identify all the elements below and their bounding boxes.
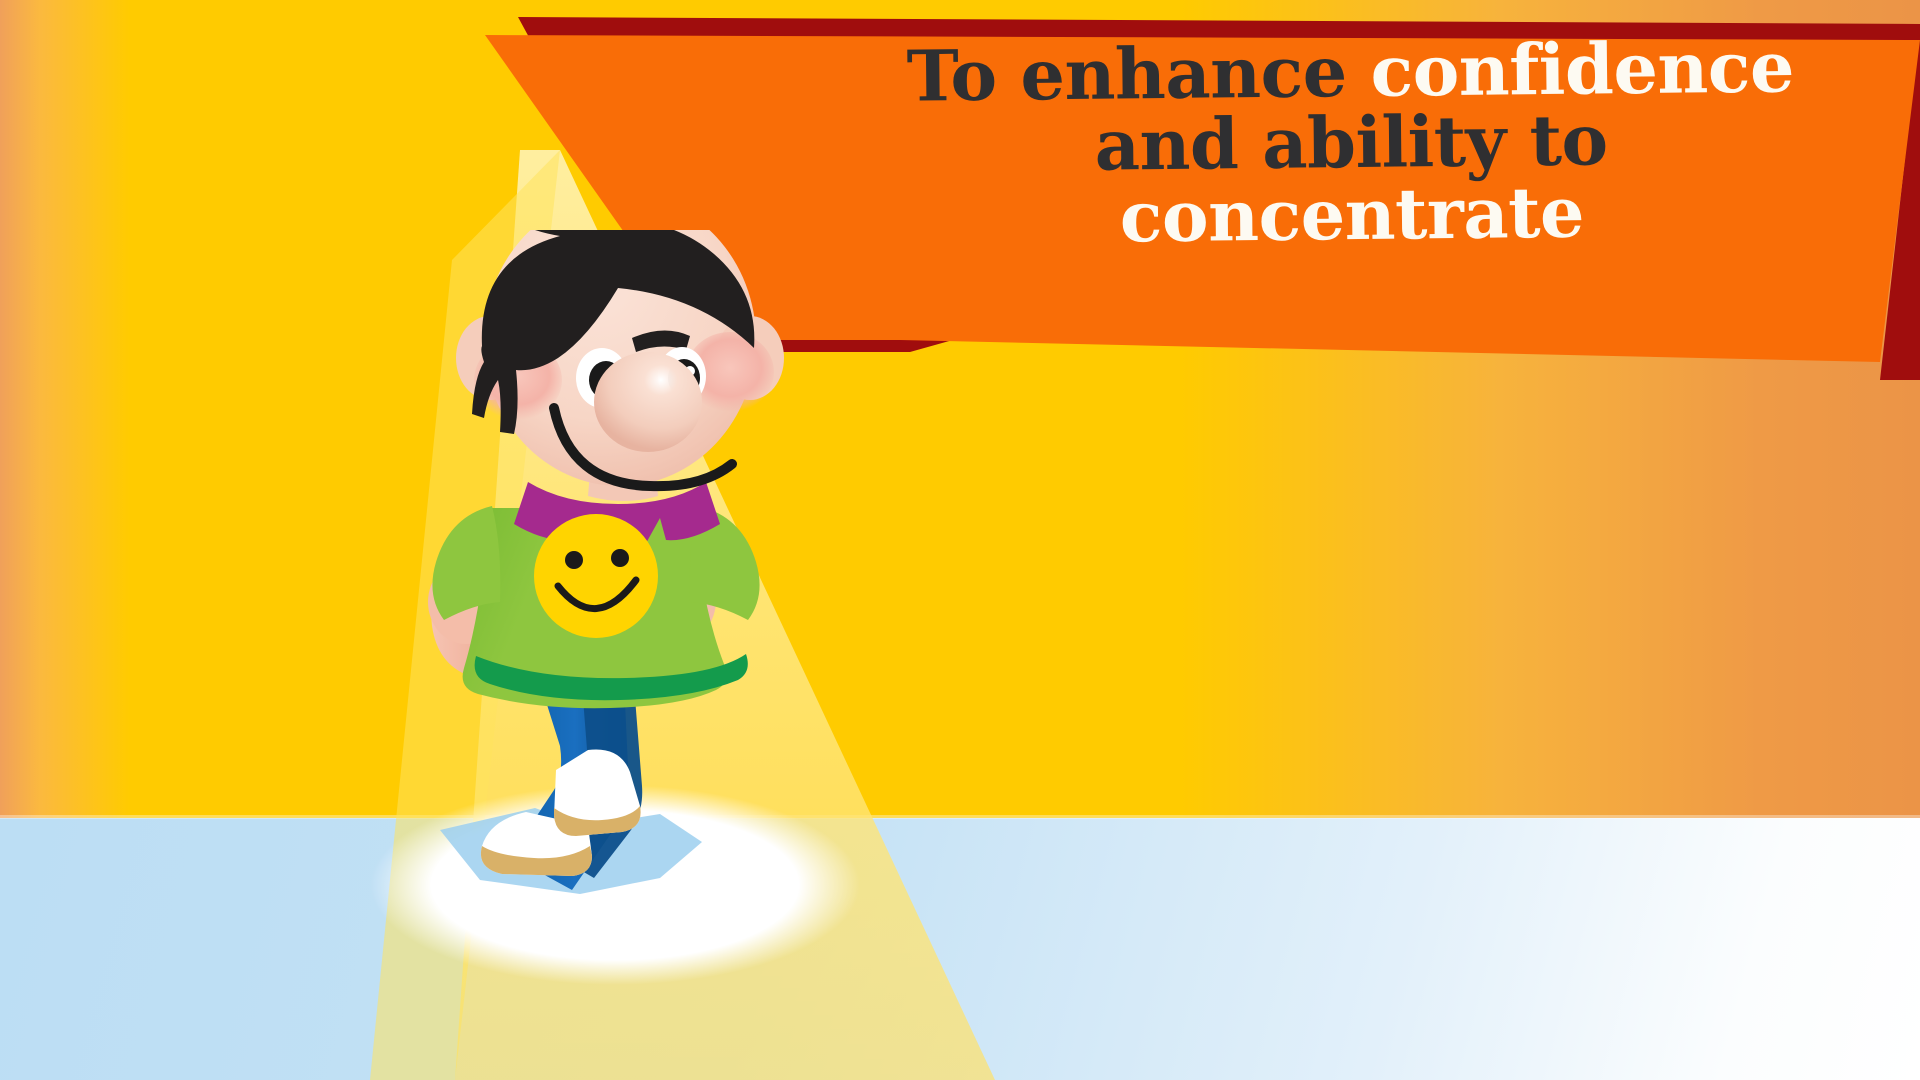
slide-canvas: To enhance confidence and ability to con…: [0, 0, 1920, 1080]
headline-banner: To enhance confidence and ability to con…: [0, 0, 1920, 400]
smiley-face-icon: [534, 514, 658, 638]
left-sleeve: [432, 506, 500, 620]
smiley-right-eye: [611, 549, 629, 567]
background-floor: [0, 818, 1920, 1080]
banner-text: To enhance confidence and ability to con…: [820, 30, 1882, 255]
smiley-left-eye: [565, 551, 583, 569]
nose: [594, 352, 702, 452]
floor-horizon-line: [0, 815, 1920, 819]
banner-line-3: concentrate: [822, 173, 1883, 255]
cartoon-boy-illustration: [330, 230, 950, 1080]
banner-line-3-light: concentrate: [1119, 170, 1584, 258]
